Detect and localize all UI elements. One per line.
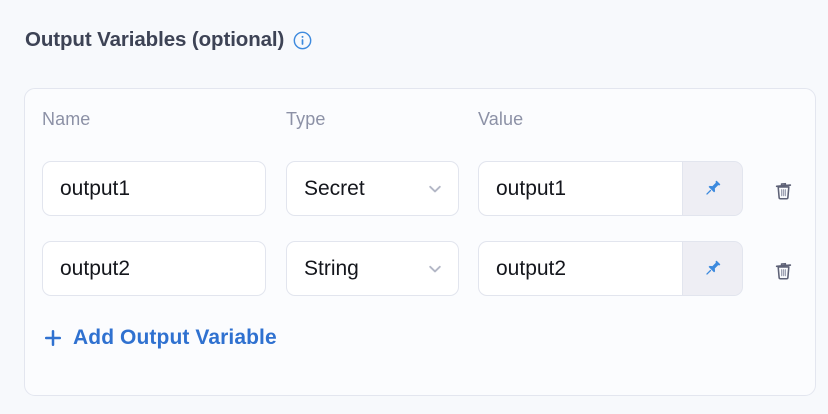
variable-value-group: output2 xyxy=(478,241,743,296)
variable-value-input[interactable]: output2 xyxy=(479,242,683,295)
variable-value-group: output1 xyxy=(478,161,743,216)
pin-button[interactable] xyxy=(683,162,742,215)
column-header-name: Name xyxy=(42,109,90,130)
trash-icon xyxy=(771,258,796,283)
variable-type-select[interactable]: Secret xyxy=(286,161,459,216)
add-output-variable-label: Add Output Variable xyxy=(73,326,277,350)
trash-icon xyxy=(771,178,796,203)
variable-value-input[interactable]: output1 xyxy=(479,162,683,215)
info-circle-icon[interactable] xyxy=(293,30,312,50)
pin-button[interactable] xyxy=(683,242,742,295)
section-header: Output Variables (optional) xyxy=(25,26,312,54)
chevron-down-icon xyxy=(426,260,448,278)
table-row: output1 Secret output1 xyxy=(25,161,815,217)
variable-type-select[interactable]: String xyxy=(286,241,459,296)
column-header-value: Value xyxy=(478,109,523,130)
variable-name-input[interactable]: output2 xyxy=(42,241,266,296)
delete-row-button[interactable] xyxy=(767,254,799,286)
table-header-row: Name Type Value xyxy=(25,109,815,133)
output-variable-rows: output1 Secret output1 xyxy=(25,161,815,321)
plus-icon xyxy=(43,328,63,348)
column-header-type: Type xyxy=(286,109,325,130)
page-title: Output Variables (optional) xyxy=(25,28,284,52)
delete-row-button[interactable] xyxy=(767,174,799,206)
output-variables-panel: Name Type Value output1 Secret output1 xyxy=(24,88,816,396)
variable-type-value: Secret xyxy=(304,177,365,201)
variable-name-input[interactable]: output1 xyxy=(42,161,266,216)
add-output-variable-button[interactable]: Add Output Variable xyxy=(39,323,281,353)
chevron-down-icon xyxy=(426,180,448,198)
variable-type-value: String xyxy=(304,257,359,281)
table-row: output2 String output2 xyxy=(25,241,815,297)
